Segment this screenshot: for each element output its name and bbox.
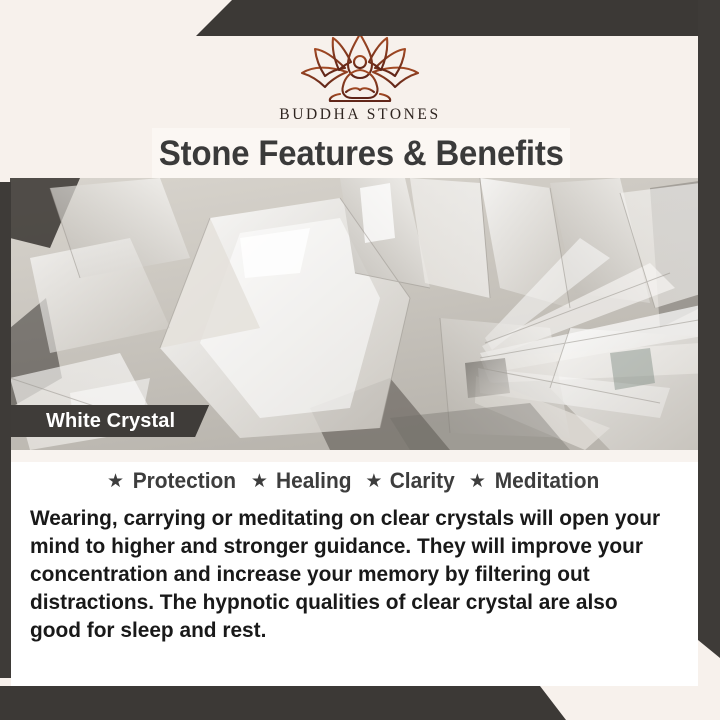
star-icon: ★: [365, 472, 382, 491]
benefit-item-healing: ★ Healing: [251, 468, 354, 494]
page-title: Stone Features & Benefits: [159, 134, 564, 174]
description-text: Wearing, carrying or meditating on clear…: [30, 504, 670, 644]
frame-accent-bottom: [0, 686, 720, 720]
star-icon: ★: [107, 472, 124, 491]
panel-top-strip: [11, 450, 698, 462]
star-icon: ★: [251, 472, 268, 491]
benefit-label: Meditation: [495, 468, 600, 494]
brand-logo: BUDDHA STONES: [0, 26, 720, 124]
benefit-label: Clarity: [390, 468, 455, 494]
frame-accent-right: [698, 0, 720, 658]
benefits-row: ★ Protection ★ Healing ★ Clarity ★ Medit…: [11, 468, 698, 494]
benefit-item-clarity: ★ Clarity: [365, 468, 457, 494]
benefit-label: Protection: [133, 468, 236, 494]
photo-caption-badge: White Crystal: [10, 405, 209, 437]
photo-caption-text: White Crystal: [46, 410, 175, 433]
stone-features-card: BUDDHA STONES Stone Features & Benefits: [0, 0, 720, 720]
benefit-label: Healing: [276, 468, 351, 494]
star-icon: ★: [469, 472, 486, 491]
brand-name: BUDDHA STONES: [0, 106, 720, 124]
lotus-meditation-icon: [285, 26, 435, 104]
frame-accent-top-right: [196, 0, 720, 36]
benefit-item-meditation: ★ Meditation: [469, 468, 602, 494]
title-band: Stone Features & Benefits: [152, 128, 570, 180]
frame-accent-left: [0, 182, 11, 678]
benefit-item-protection: ★ Protection: [107, 468, 239, 494]
